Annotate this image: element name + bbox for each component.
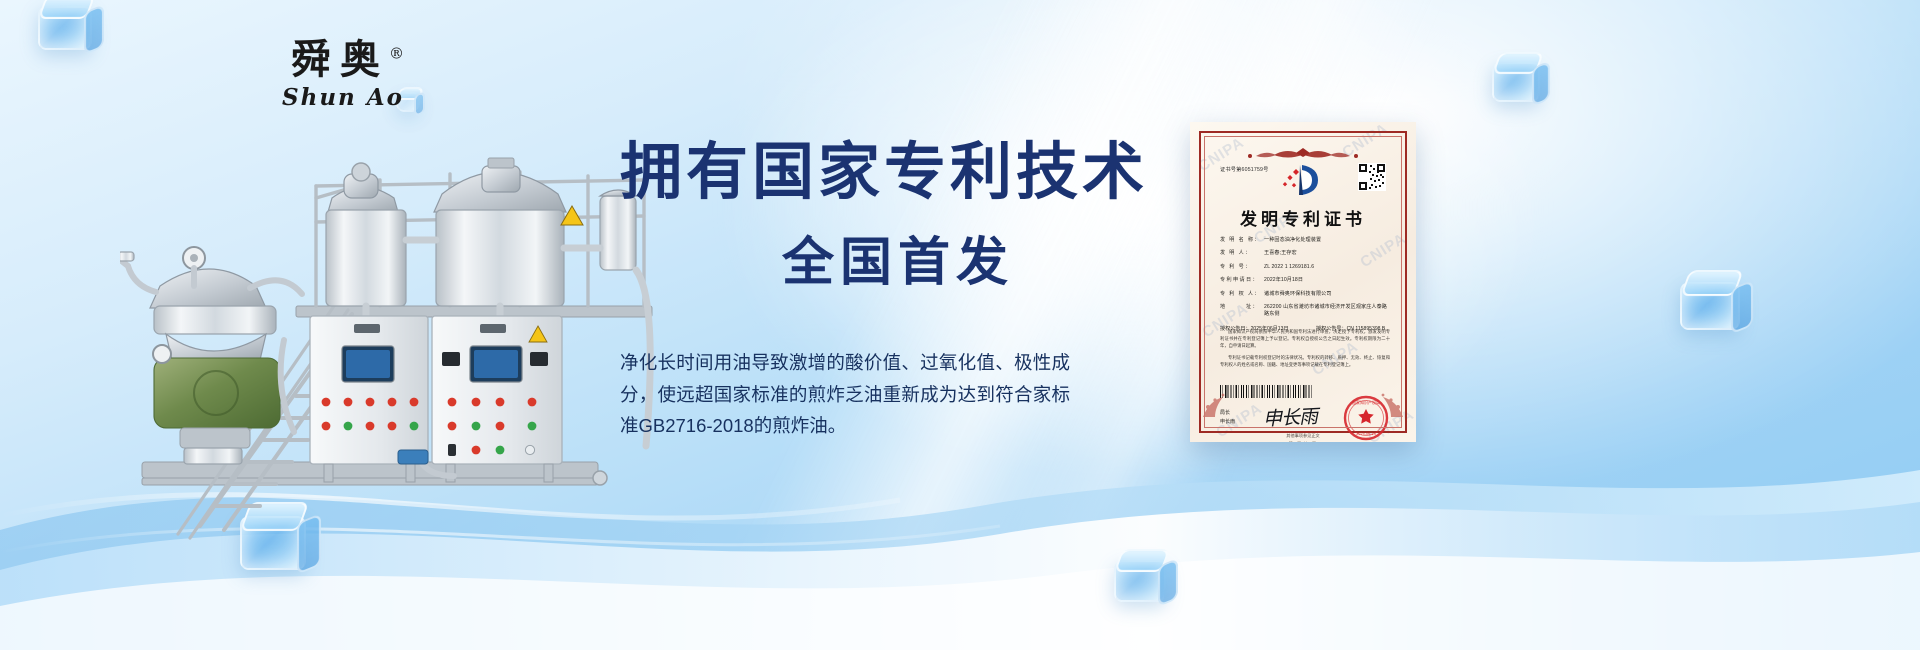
certificate-field: 专利申请日 2022年10月18日 (1220, 277, 1390, 284)
certificate-note-footer: 其他事项参见正文 (1190, 433, 1416, 439)
corner-ornament (1203, 391, 1237, 417)
headline-secondary: 全国首发 (620, 220, 1180, 295)
field-label: 地 址 (1220, 304, 1264, 318)
certificate-border: 证书号第6051759号 (1199, 131, 1407, 433)
body-paragraph: 净化长时间用油导致激增的酸价值、过氧化值、极性成分，使远超国家标准的煎炸乏油重新… (620, 347, 1070, 442)
field-value: 王喜春;王存宏 (1264, 250, 1390, 257)
certificate-legal-text: 国家知识产权局依照中华人民共和国专利法进行审查，决定授予专利权，颁发发明专利证书… (1220, 329, 1390, 374)
certificate-field: 地 址 262200 山东省潍坊市诸城市经济开发区观家庄人泰路路东侧 (1220, 304, 1390, 318)
field-label: 发 明 名 称 (1220, 237, 1264, 244)
certificate-field: 专 利 号 ZL 2022 1 1269181.6 (1220, 264, 1390, 271)
certificate-field: 专 利 权 人 诸城市舜奥环保科技有限公司 (1220, 291, 1390, 298)
brand-logo: 舜奥® Shun Ao (268, 40, 418, 111)
ice-cube (1680, 282, 1740, 330)
field-value: 262200 山东省潍坊市诸城市经济开发区观家庄人泰路路东侧 (1264, 304, 1390, 318)
field-label: 专 利 权 人 (1220, 291, 1264, 298)
field-value: 一种固态油净化处理装置 (1264, 237, 1390, 244)
legal-paragraph: 国家知识产权局依照中华人民共和国专利法进行审查，决定授予专利权，颁发发明专利证书… (1220, 329, 1390, 350)
patent-certificate: CNIPA CNIPA CNIPA CNIPA CNIPA CNIPA CNIP… (1190, 122, 1416, 442)
certificate-field: 发 明 人 王喜春;王存宏 (1220, 250, 1390, 257)
certificate-field: 发 明 名 称 一种固态油净化处理装置 (1220, 237, 1390, 244)
field-label: 专利申请日 (1220, 277, 1264, 284)
headline-primary: 拥有国家专利技术 (620, 140, 1180, 206)
field-value: 2022年10月18日 (1264, 277, 1390, 284)
promo-copy: 拥有国家专利技术 全国首发 净化长时间用油导致激增的酸价值、过氧化值、极性成分，… (620, 140, 1180, 442)
brand-logo-latin: Shun Ao (268, 84, 418, 111)
barcode (1220, 385, 1312, 398)
grant-date: 授权公告日：2025年06月13日 (1220, 325, 1316, 332)
director-label: 局长 申长雨 (1220, 409, 1235, 426)
cnipa-emblem-icon (1282, 163, 1324, 197)
ornament-decoration (1244, 146, 1362, 162)
certificate-title: 发明专利证书 (1201, 205, 1405, 230)
promo-banner: 舜奥® Shun Ao 拥有国家专利技术 全国首发 净化长时间用油导致激增的酸价… (0, 0, 1920, 650)
qr-code (1358, 163, 1386, 191)
certificate-grant-row: 授权公告日：2025年06月13日 授权公告号：CN 115895398 B (1220, 325, 1390, 332)
svg-text:国家知识产权局: 国家知识产权局 (1352, 399, 1380, 405)
grant-number: 授权公告号：CN 115895398 B (1316, 325, 1385, 332)
certificate-fields: 发 明 名 称 一种固态油净化处理装置 发 明 人 王喜春;王存宏 专 利 号 … (1220, 237, 1390, 332)
ice-cube (1114, 560, 1166, 602)
corner-ornament (1369, 391, 1403, 417)
ice-cube (38, 6, 92, 50)
certificate-number: 证书号第6051759号 (1220, 166, 1269, 173)
field-label: 发 明 人 (1220, 250, 1264, 257)
ice-cube (1492, 62, 1540, 102)
brand-logo-chinese: 舜奥® (268, 40, 418, 80)
field-label: 专 利 号 (1220, 264, 1264, 271)
certificate-page-footer: 第 1 页 (共 2 页) (1201, 441, 1405, 442)
field-value: ZL 2022 1 1269181.6 (1264, 264, 1390, 271)
field-value: 诸城市舜奥环保科技有限公司 (1264, 291, 1390, 298)
director-signature: 申长雨 (1262, 402, 1317, 432)
legal-paragraph: 专利证书记载专利权登记时的法律状况。专利权的转移、质押、无效、终止、恢复和专利权… (1220, 355, 1390, 369)
registered-trademark-icon: ® (389, 45, 404, 63)
